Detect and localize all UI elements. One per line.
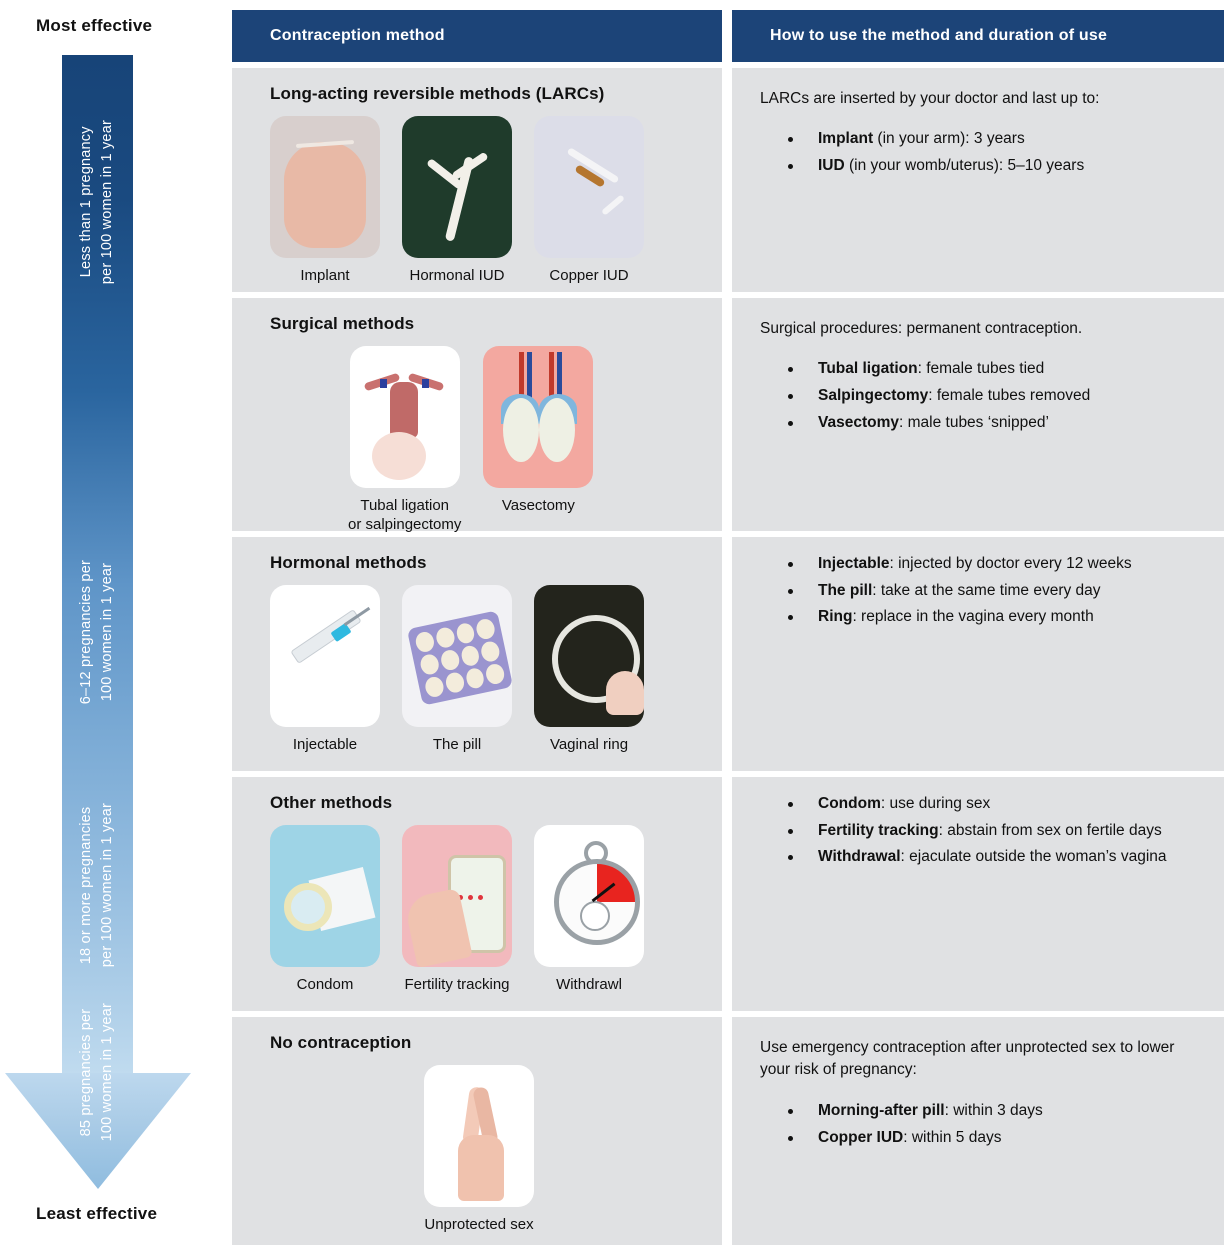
bullet-detail: : ejaculate outside the woman’s vagina: [901, 848, 1167, 865]
list-item: Salpingectomy: female tubes removed: [760, 383, 1204, 410]
bullet-term: Fertility tracking: [818, 822, 939, 839]
crossed-fingers-photo-icon: [424, 1065, 534, 1207]
thumbnail-item: Fertility tracking: [402, 825, 512, 995]
bullet-term: The pill: [818, 582, 872, 599]
thumbnail-item: Unprotected sex: [424, 1065, 534, 1235]
thumbnail-caption: The pill: [433, 736, 481, 755]
thumbnail-item: Injectable: [270, 585, 380, 755]
bullet-detail: : use during sex: [881, 795, 990, 812]
column-header-usage: How to use the method and duration of us…: [732, 10, 1224, 62]
bullet-term: Ring: [818, 608, 852, 625]
bullet-term: Morning-after pill: [818, 1102, 945, 1119]
usage-cell: Surgical procedures: permanent contracep…: [732, 298, 1224, 531]
bullet-detail: : within 5 days: [903, 1129, 1001, 1146]
thumbnail-group: Condom Fertility tracking Withdrawl: [270, 825, 704, 995]
row-title: Hormonal methods: [270, 553, 704, 573]
effectiveness-arrow-shaft: [62, 55, 133, 1074]
usage-bullets: Condom: use during sex Fertility trackin…: [760, 791, 1204, 871]
bullet-detail: : within 3 days: [945, 1102, 1043, 1119]
thumbnail-item: Hormonal IUD: [402, 116, 512, 286]
implant-photo-icon: [270, 116, 380, 258]
bullet-detail: : female tubes tied: [918, 360, 1045, 377]
thumbnail-caption: Withdrawl: [556, 976, 622, 995]
usage-intro: LARCs are inserted by your doctor and la…: [760, 88, 1204, 110]
bullet-detail: (in your arm): 3 years: [873, 130, 1025, 147]
bullet-detail: : replace in the vagina every month: [852, 608, 1093, 625]
thumbnail-caption: Condom: [297, 976, 354, 995]
bullet-term: Injectable: [818, 555, 890, 572]
method-cell: Hormonal methods Injectable The pill: [232, 537, 722, 771]
table-header-row: Contraception method How to use the meth…: [232, 10, 1224, 62]
bullet-term: IUD: [818, 157, 845, 174]
thumbnail-caption: Implant: [300, 267, 349, 286]
bullet-detail: : male tubes ‘snipped’: [899, 414, 1049, 431]
thumbnail-caption: Unprotected sex: [424, 1216, 533, 1235]
thumbnail-group: Implant Hormonal IUD Copper IUD: [270, 116, 704, 286]
table-row: Surgical methods Tubal ligation or salpi…: [232, 298, 1224, 531]
usage-cell: Condom: use during sex Fertility trackin…: [732, 777, 1224, 1011]
list-item: Withdrawal: ejaculate outside the woman’…: [760, 844, 1204, 871]
usage-cell: LARCs are inserted by your doctor and la…: [732, 68, 1224, 292]
thumbnail-item: Implant: [270, 116, 380, 286]
usage-bullets: Tubal ligation: female tubes tied Salpin…: [760, 356, 1204, 436]
usage-cell: Use emergency contraception after unprot…: [732, 1017, 1224, 1245]
thumbnail-caption: Vaginal ring: [550, 736, 628, 755]
method-cell: No contraception Unprotected sex: [232, 1017, 722, 1245]
thumbnail-caption: Fertility tracking: [404, 976, 509, 995]
vaginal-ring-photo-icon: [534, 585, 644, 727]
thumbnail-caption: Copper IUD: [549, 267, 628, 286]
bullet-detail: : injected by doctor every 12 weeks: [890, 555, 1132, 572]
list-item: Copper IUD: within 5 days: [760, 1125, 1204, 1152]
least-effective-label: Least effective: [36, 1204, 157, 1224]
copper-iud-photo-icon: [534, 116, 644, 258]
list-item: The pill: take at the same time every da…: [760, 578, 1204, 605]
table-row: Other methods Condom Fertility tracking: [232, 777, 1224, 1011]
effectiveness-scale: Most effective Less than 1 pregnancy per…: [0, 0, 232, 1244]
list-item: Morning-after pill: within 3 days: [760, 1098, 1204, 1125]
thumbnail-item: Condom: [270, 825, 380, 995]
list-item: Fertility tracking: abstain from sex on …: [760, 818, 1204, 845]
usage-bullets: Morning-after pill: within 3 days Copper…: [760, 1098, 1204, 1151]
usage-bullets: Implant (in your arm): 3 years IUD (in y…: [760, 126, 1204, 179]
contraception-table: Contraception method How to use the meth…: [232, 10, 1224, 1245]
stopwatch-photo-icon: [534, 825, 644, 967]
thumbnail-caption: Tubal ligation or salpingectomy: [348, 497, 461, 535]
row-title: No contraception: [270, 1033, 704, 1053]
thumbnail-item: Copper IUD: [534, 116, 644, 286]
vasectomy-diagram-icon: [483, 346, 593, 488]
thumbnail-item: The pill: [402, 585, 512, 755]
thumbnail-item: Vasectomy: [483, 346, 593, 516]
row-title: Surgical methods: [270, 314, 704, 334]
thumbnail-group: Unprotected sex: [270, 1065, 704, 1235]
usage-cell: Injectable: injected by doctor every 12 …: [732, 537, 1224, 771]
list-item: Vasectomy: male tubes ‘snipped’: [760, 410, 1204, 437]
bullet-detail: : female tubes removed: [928, 387, 1090, 404]
method-cell: Long-acting reversible methods (LARCs) I…: [232, 68, 722, 292]
bullet-term: Salpingectomy: [818, 387, 928, 404]
condom-photo-icon: [270, 825, 380, 967]
bullet-detail: : take at the same time every day: [872, 582, 1100, 599]
thumbnail-item: Vaginal ring: [534, 585, 644, 755]
thumbnail-group: Tubal ligation or salpingectomy Vasectom…: [270, 346, 704, 535]
most-effective-label: Most effective: [36, 16, 152, 36]
list-item: Implant (in your arm): 3 years: [760, 126, 1204, 153]
syringe-photo-icon: [270, 585, 380, 727]
thumbnail-caption: Hormonal IUD: [409, 267, 504, 286]
bullet-detail: (in your womb/uterus): 5–10 years: [845, 157, 1085, 174]
table-row: Long-acting reversible methods (LARCs) I…: [232, 68, 1224, 292]
bullet-term: Vasectomy: [818, 414, 899, 431]
list-item: Injectable: injected by doctor every 12 …: [760, 551, 1204, 578]
bullet-term: Withdrawal: [818, 848, 901, 865]
effectiveness-arrow-head: [5, 1073, 191, 1189]
bullet-term: Condom: [818, 795, 881, 812]
thumbnail-item: Withdrawl: [534, 825, 644, 995]
usage-bullets: Injectable: injected by doctor every 12 …: [760, 551, 1204, 631]
row-title: Other methods: [270, 793, 704, 813]
method-cell: Other methods Condom Fertility tracking: [232, 777, 722, 1011]
tubal-ligation-diagram-icon: [350, 346, 460, 488]
bullet-term: Copper IUD: [818, 1129, 903, 1146]
bullet-term: Implant: [818, 130, 873, 147]
method-cell: Surgical methods Tubal ligation or salpi…: [232, 298, 722, 531]
column-header-method: Contraception method: [232, 10, 722, 62]
list-item: Condom: use during sex: [760, 791, 1204, 818]
bullet-term: Tubal ligation: [818, 360, 918, 377]
thumbnail-item: Tubal ligation or salpingectomy: [348, 346, 461, 535]
list-item: Ring: replace in the vagina every month: [760, 604, 1204, 631]
table-row: No contraception Unprotected sex Use eme…: [232, 1017, 1224, 1245]
thumbnail-caption: Vasectomy: [502, 497, 575, 516]
usage-intro: Surgical procedures: permanent contracep…: [760, 318, 1204, 340]
row-title: Long-acting reversible methods (LARCs): [270, 84, 704, 104]
table-row: Hormonal methods Injectable The pill: [232, 537, 1224, 771]
hormonal-iud-photo-icon: [402, 116, 512, 258]
pill-blister-photo-icon: [402, 585, 512, 727]
thumbnail-group: Injectable The pill Vaginal ring: [270, 585, 704, 755]
list-item: IUD (in your womb/uterus): 5–10 years: [760, 153, 1204, 180]
bullet-detail: : abstain from sex on fertile days: [939, 822, 1162, 839]
thumbnail-caption: Injectable: [293, 736, 357, 755]
usage-intro: Use emergency contraception after unprot…: [760, 1037, 1204, 1082]
fertility-app-photo-icon: [402, 825, 512, 967]
list-item: Tubal ligation: female tubes tied: [760, 356, 1204, 383]
